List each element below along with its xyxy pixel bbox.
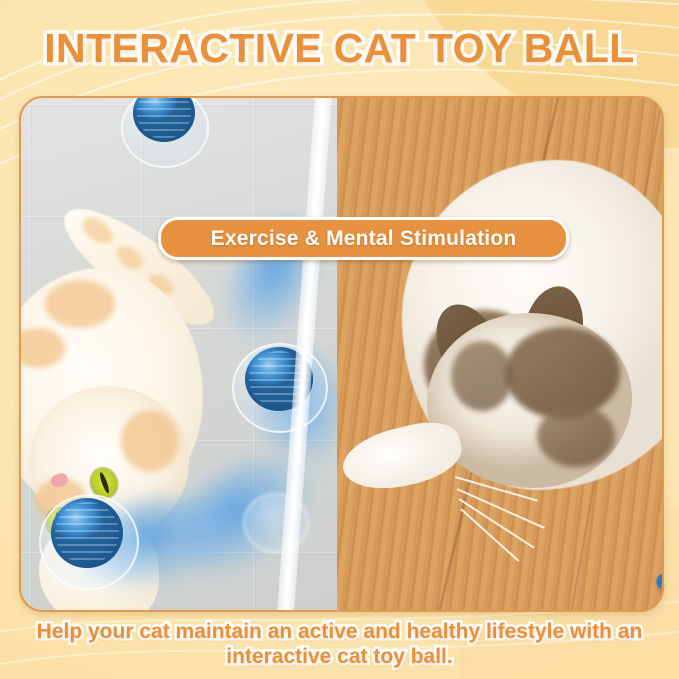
caption-line-2: interactive cat toy ball. [28,644,651,669]
page-title: INTERACTIVE CAT TOY BALL [0,25,679,72]
feature-badge-label: Exercise & Mental Stimulation [211,227,517,251]
caption: Help your cat maintain an active and hea… [28,619,651,669]
product-poster: INTERACTIVE CAT TOY BALL [0,0,679,679]
ragdoll-cat-head [427,313,632,488]
toy-ball-bottom [51,498,123,568]
feature-badge: Exercise & Mental Stimulation [158,217,569,260]
photo-panel: Exercise & Mental Stimulation [19,96,664,612]
caption-line-1: Help your cat maintain an active and hea… [28,619,651,644]
photo-right [337,98,662,610]
